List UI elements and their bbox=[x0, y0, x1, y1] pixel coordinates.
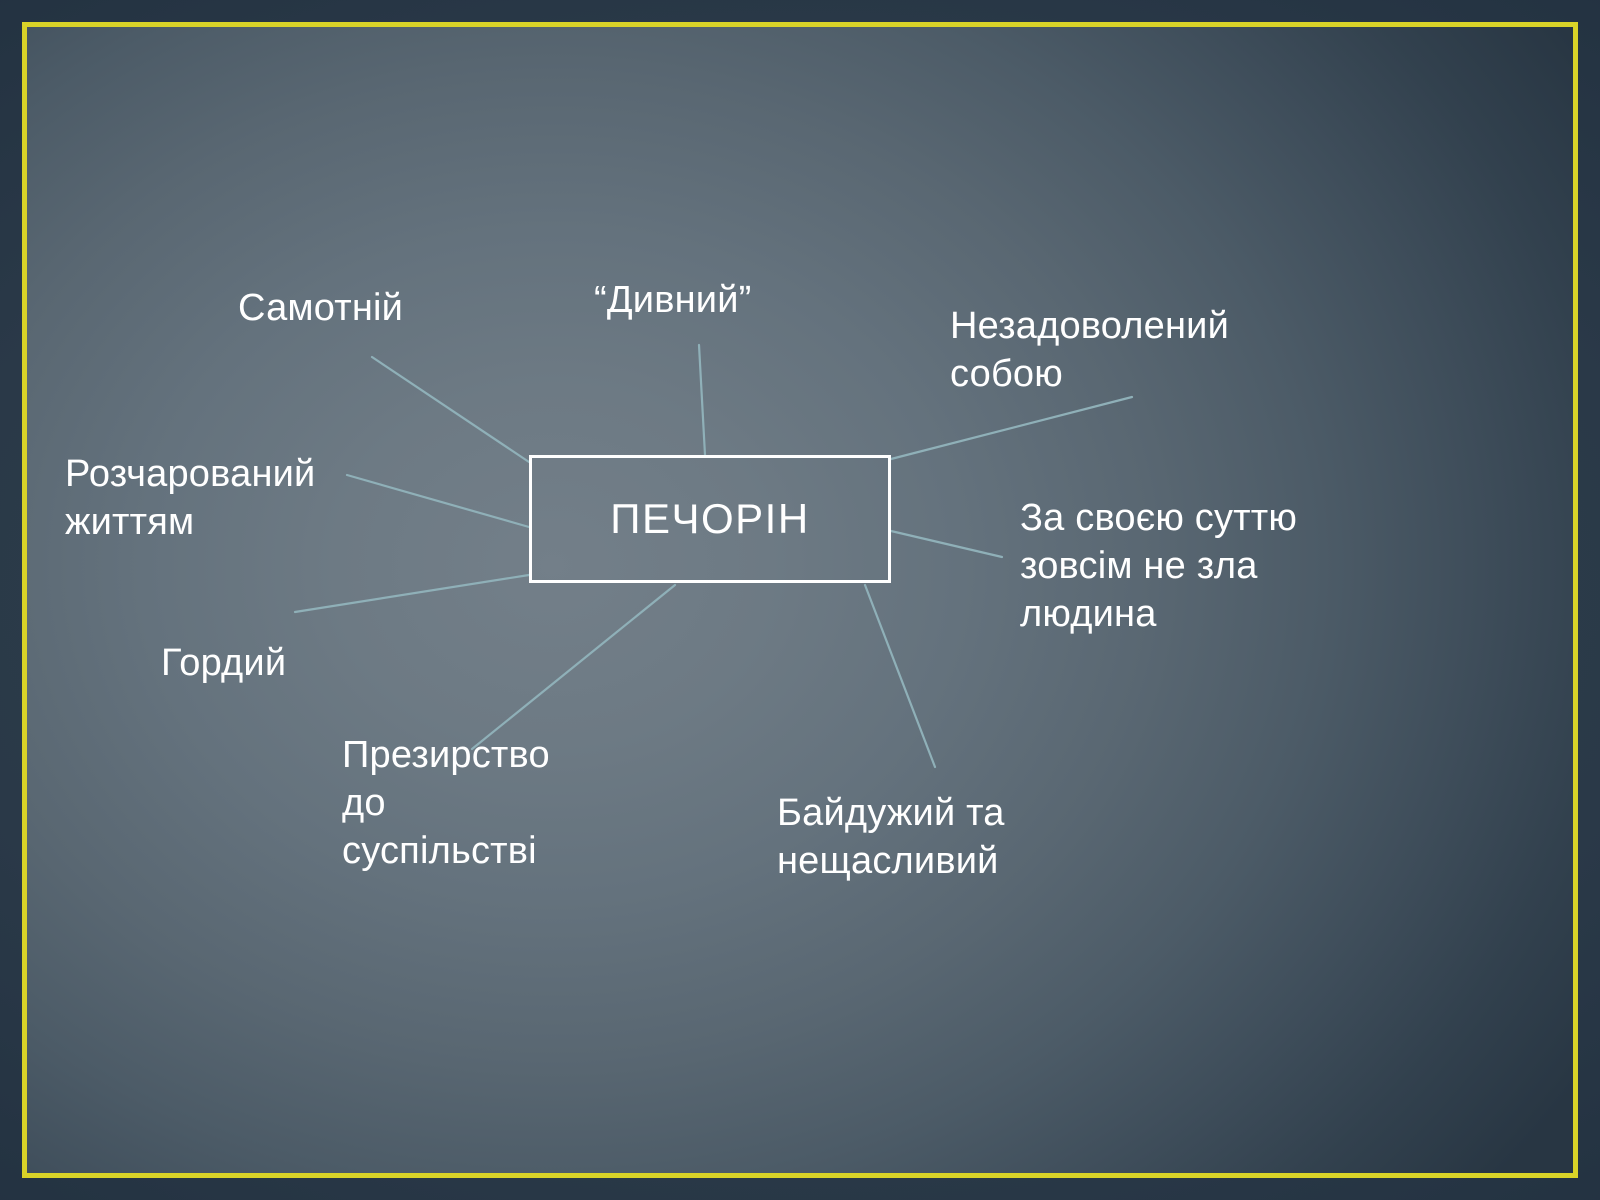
connector-lines-group bbox=[27, 27, 1573, 1173]
label-rozcharovanyi-zhyttyam: Розчарований життям bbox=[65, 451, 315, 547]
label-za-svoyeyu-suttyu: За своєю суттю зовсім не зла людина bbox=[1020, 495, 1297, 639]
connector-rozcharovanyi bbox=[347, 475, 529, 527]
connector-nezadovolenyi bbox=[891, 397, 1132, 459]
connector-zasvoyeyu bbox=[891, 531, 1002, 557]
connector-dyvnyi bbox=[699, 345, 705, 455]
label-hordyi: Гордий bbox=[161, 640, 286, 688]
label-nezadovolenyi-soboyu: Незадоволений собою bbox=[950, 303, 1229, 399]
connector-baiduzhyi bbox=[865, 585, 935, 767]
diagram-area: Самотній “Дивний” Незадоволений собою Ро… bbox=[27, 27, 1573, 1173]
slide-canvas: Самотній “Дивний” Незадоволений собою Ро… bbox=[0, 0, 1600, 1200]
label-baiduzhyi-ta-neshchaslyvyi: Байдужий та нещасливий bbox=[777, 790, 1005, 886]
connector-prezyrstvo bbox=[472, 585, 675, 749]
label-dyvnyi: “Дивний” bbox=[594, 277, 752, 325]
connector-hordyi bbox=[295, 575, 529, 612]
center-node-box: ПЕЧОРІН bbox=[529, 455, 891, 583]
label-samotniy: Самотній bbox=[238, 285, 403, 333]
label-prezyrstvo-do-suspilstvi: Презирство до суспільстві bbox=[342, 732, 550, 876]
center-node-title: ПЕЧОРІН bbox=[610, 495, 809, 543]
connector-samotniy bbox=[372, 357, 529, 462]
